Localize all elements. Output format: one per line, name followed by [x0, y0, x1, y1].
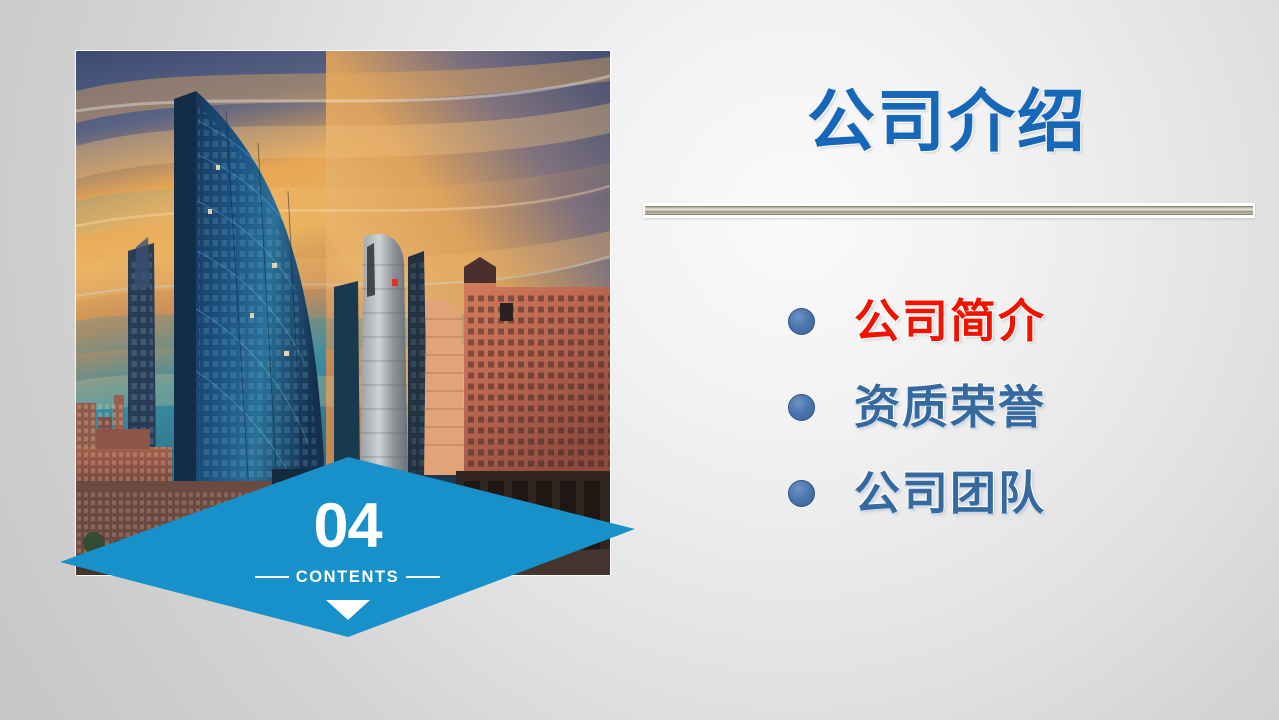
list-item[interactable]: 公司团队 — [788, 450, 1248, 536]
contents-rule-right — [406, 576, 440, 578]
contents-rule-left — [255, 576, 289, 578]
list-item-label: 资质荣誉 — [854, 384, 1046, 430]
list-item-label: 公司团队 — [854, 470, 1046, 516]
title-divider — [643, 203, 1255, 218]
right-content-panel: 公司介绍 公司简介 资质荣誉 公司团队 — [640, 0, 1279, 720]
list-item[interactable]: 公司简介 — [788, 278, 1248, 364]
triangle-down-icon — [60, 600, 635, 620]
presentation-slide: 04 CONTENTS 公司介绍 公司简介 资质荣誉 — [0, 0, 1279, 720]
title-divider-inner — [645, 206, 1253, 215]
page-title: 公司介绍 — [640, 88, 1254, 156]
bullet-dot-icon — [788, 308, 815, 335]
city-skyline-photo — [76, 51, 610, 575]
list-item-label: 公司简介 — [854, 298, 1046, 344]
list-item[interactable]: 资质荣誉 — [788, 364, 1248, 450]
city-photo-illustration — [76, 51, 610, 575]
bullet-dot-icon — [788, 480, 815, 507]
bullet-dot-icon — [788, 394, 815, 421]
contents-bullet-list: 公司简介 资质荣誉 公司团队 — [788, 278, 1248, 536]
